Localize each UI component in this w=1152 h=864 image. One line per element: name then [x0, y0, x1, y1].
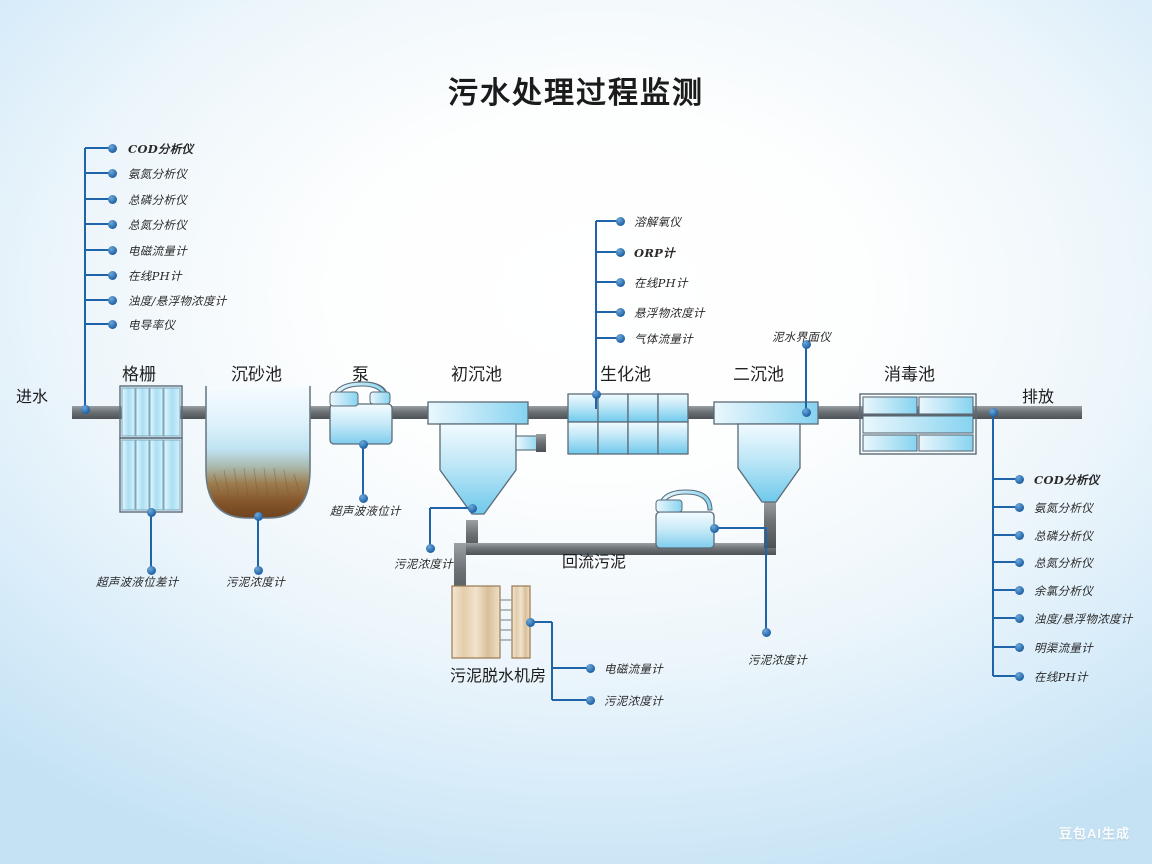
- instrument-label-inlet-1: 氨氮分析仪: [128, 166, 187, 182]
- instrument-dot-grit-density-top: [254, 512, 263, 521]
- instrument-label-outlet-5: 浊度/悬浮物浓度计: [1034, 611, 1133, 627]
- instrument-dot-outlet-7[interactable]: [1015, 672, 1024, 681]
- diagram-graphics: [0, 0, 1152, 864]
- stage-label-pump: 泵: [352, 360, 369, 385]
- instrument-label-outlet-4: 余氯分析仪: [1034, 583, 1093, 599]
- instrument-label-bio-1: ORP计: [634, 245, 675, 261]
- instrument-dot-outlet-6[interactable]: [1015, 643, 1024, 652]
- pipe-junction-outlet: [989, 408, 998, 417]
- page-title: 污水处理过程监测: [0, 68, 1152, 112]
- instrument-label-inlet-7: 电导率仪: [128, 317, 175, 333]
- label-return-sludge: 回流污泥: [562, 548, 626, 572]
- label-inlet: 进水: [16, 383, 48, 407]
- instrument-dot-interface-meter-pipe: [802, 408, 811, 417]
- instrument-dot-bio-3[interactable]: [616, 308, 625, 317]
- instrument-dot-inlet-1[interactable]: [108, 169, 117, 178]
- instrument-dot-dewatering-tap: [526, 618, 535, 627]
- instrument-dot-inlet-2[interactable]: [108, 195, 117, 204]
- stage-label-grit-chamber: 沉砂池: [231, 360, 282, 385]
- instrument-dot-inlet-0[interactable]: [108, 144, 117, 153]
- label-outlet: 排放: [1022, 383, 1054, 407]
- instrument-dot-pump-level-top: [359, 440, 368, 449]
- stage-label-disinfection-tank: 消毒池: [884, 360, 935, 385]
- instrument-dot-dewatering-flow[interactable]: [586, 664, 595, 673]
- stage-label-bio-tank: 生化池: [600, 360, 651, 385]
- instrument-label-dewatering-flow: 电磁流量计: [604, 661, 663, 677]
- instrument-label-dewatering-density: 污泥浓度计: [604, 693, 663, 709]
- instrument-label-inlet-0: COD分析仪: [128, 141, 193, 157]
- instrument-label-pump-level: 超声波液位计: [330, 503, 401, 519]
- instrument-label-outlet-2: 总磷分析仪: [1034, 528, 1093, 544]
- label-dewatering-house: 污泥脱水机房: [450, 662, 546, 686]
- pipe-junction-inlet: [81, 405, 90, 414]
- instrument-dot-pump-level[interactable]: [359, 494, 368, 503]
- instrument-dot-bio-1[interactable]: [616, 248, 625, 257]
- instrument-label-bio-4: 气体流量计: [634, 331, 693, 347]
- pipe-junction-bio: [592, 390, 601, 399]
- instrument-dot-inlet-3[interactable]: [108, 220, 117, 229]
- instrument-label-bio-2: 在线PH计: [634, 275, 688, 291]
- instrument-dot-outlet-5[interactable]: [1015, 614, 1024, 623]
- instrument-dot-primary-density[interactable]: [426, 544, 435, 553]
- instrument-label-grating-level-diff: 超声波液位差计: [96, 574, 179, 590]
- instrument-dot-outlet-1[interactable]: [1015, 503, 1024, 512]
- instrument-label-grit-density: 污泥浓度计: [226, 574, 285, 590]
- instrument-label-outlet-3: 总氮分析仪: [1034, 555, 1093, 571]
- instrument-label-outlet-6: 明渠流量计: [1034, 640, 1093, 656]
- stage-label-secondary-clarifier: 二沉池: [733, 360, 784, 385]
- instrument-dot-outlet-2[interactable]: [1015, 531, 1024, 540]
- instrument-dot-return-density[interactable]: [762, 628, 771, 637]
- instrument-label-outlet-1: 氨氮分析仪: [1034, 500, 1093, 516]
- instrument-dot-grating-level-diff-top: [147, 508, 156, 517]
- instrument-dot-bio-2[interactable]: [616, 278, 625, 287]
- instrument-label-interface-meter: 泥水界面仪: [772, 329, 831, 345]
- process-diagram: 污水处理过程监测: [0, 0, 1152, 864]
- instrument-dot-inlet-5[interactable]: [108, 271, 117, 280]
- stage-label-grating: 格栅: [122, 360, 156, 385]
- instrument-label-primary-density: 污泥浓度计: [394, 556, 453, 572]
- instrument-label-inlet-5: 在线PH计: [128, 268, 182, 284]
- instrument-dot-outlet-0[interactable]: [1015, 475, 1024, 484]
- instrument-label-inlet-6: 浊度/悬浮物浓度计: [128, 293, 227, 309]
- stage-label-primary-clarifier: 初沉池: [451, 360, 502, 385]
- watermark: 豆包AI生成: [1059, 823, 1130, 842]
- instrument-label-inlet-3: 总氮分析仪: [128, 217, 187, 233]
- instrument-dot-inlet-7[interactable]: [108, 320, 117, 329]
- instrument-label-bio-0: 溶解氧仪: [634, 214, 681, 230]
- instrument-label-inlet-2: 总磷分析仪: [128, 192, 187, 208]
- instrument-label-inlet-4: 电磁流量计: [128, 243, 187, 259]
- instrument-dot-return-density-top: [710, 524, 719, 533]
- instrument-label-outlet-0: COD分析仪: [1034, 472, 1099, 488]
- instrument-dot-inlet-6[interactable]: [108, 296, 117, 305]
- instrument-label-return-density: 污泥浓度计: [748, 652, 807, 668]
- instrument-dot-outlet-4[interactable]: [1015, 586, 1024, 595]
- instrument-label-outlet-7: 在线PH计: [1034, 669, 1088, 685]
- instrument-label-bio-3: 悬浮物浓度计: [634, 305, 705, 321]
- instrument-dot-bio-4[interactable]: [616, 334, 625, 343]
- instrument-dot-bio-0[interactable]: [616, 217, 625, 226]
- instrument-dot-dewatering-density[interactable]: [586, 696, 595, 705]
- instrument-dot-inlet-4[interactable]: [108, 246, 117, 255]
- instrument-dot-primary-density-top: [468, 504, 477, 513]
- instrument-dot-outlet-3[interactable]: [1015, 558, 1024, 567]
